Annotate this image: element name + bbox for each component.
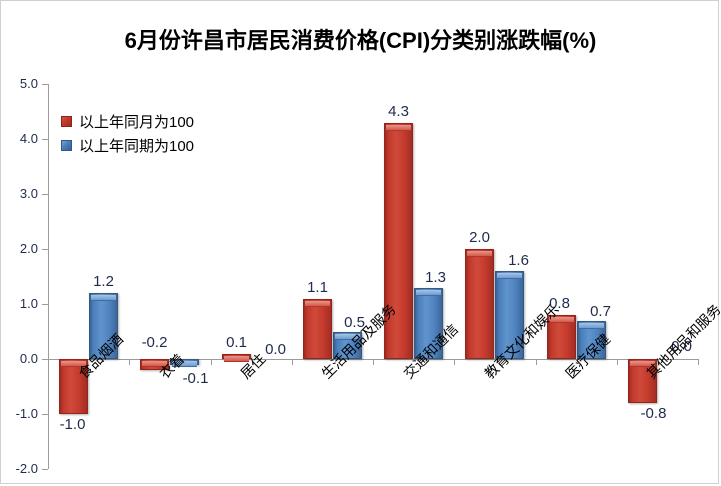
- bar-series1[interactable]: [222, 354, 251, 360]
- bar-series1[interactable]: [303, 299, 332, 360]
- y-axis-tick-label: 4.0: [1, 133, 38, 145]
- y-axis-tick-label: 5.0: [1, 78, 38, 90]
- legend-label: 以上年同期为100: [79, 135, 194, 156]
- bar-value-label: 1.6: [496, 253, 542, 268]
- y-axis-tick-label: 1.0: [1, 298, 38, 310]
- legend-label: 以上年同月为100: [79, 111, 194, 132]
- y-axis-tick: [42, 469, 48, 470]
- bar-value-label: 2.0: [457, 230, 503, 245]
- bar-series1[interactable]: [384, 123, 413, 360]
- x-axis-tick: [48, 359, 49, 365]
- chart-frame: 6月份许昌市居民消费价格(CPI)分类别涨跌幅(%) 5.04.03.02.01…: [0, 0, 719, 484]
- y-axis-tick-label: -1.0: [1, 408, 38, 420]
- x-axis-tick: [454, 359, 455, 365]
- y-axis-tick: [42, 84, 48, 85]
- bar-value-label: -0.8: [631, 406, 677, 421]
- bar-value-label: 1.2: [81, 274, 127, 289]
- x-axis-tick: [617, 359, 618, 365]
- legend-item[interactable]: 以上年同月为100: [61, 109, 194, 133]
- y-axis-tick: [42, 414, 48, 415]
- bar-value-label: -1.0: [50, 417, 96, 432]
- y-axis-line: [48, 84, 49, 469]
- chart-legend: 以上年同月为100以上年同期为100: [61, 109, 194, 157]
- y-axis-tick: [42, 304, 48, 305]
- x-axis-tick: [211, 359, 212, 365]
- legend-swatch-red: [61, 116, 72, 127]
- page-title: 6月份许昌市居民消费价格(CPI)分类别涨跌幅(%): [1, 23, 720, 55]
- bar-series1[interactable]: [465, 249, 494, 359]
- x-axis-tick: [698, 359, 699, 365]
- legend-item[interactable]: 以上年同期为100: [61, 133, 194, 157]
- x-axis-category-label: 其他用品和服务: [644, 302, 721, 381]
- bar-value-label: -0.2: [132, 335, 178, 350]
- x-axis-tick: [292, 359, 293, 365]
- y-axis-tick-label: -2.0: [1, 463, 38, 475]
- y-axis-tick-label: 2.0: [1, 243, 38, 255]
- bar-value-label: 1.1: [295, 280, 341, 295]
- legend-swatch-blue: [61, 140, 72, 151]
- x-axis-tick: [373, 359, 374, 365]
- bar-value-label: 0.7: [578, 304, 624, 319]
- bar-value-label: -0.1: [173, 371, 219, 386]
- y-axis-tick: [42, 249, 48, 250]
- x-axis-tick: [129, 359, 130, 365]
- y-axis-tick-label: 3.0: [1, 188, 38, 200]
- x-axis-tick: [536, 359, 537, 365]
- y-axis-tick: [42, 139, 48, 140]
- y-axis-tick: [42, 194, 48, 195]
- y-axis-tick-label: 0.0: [1, 353, 38, 365]
- bar-value-label: 4.3: [376, 104, 422, 119]
- bar-value-label: 1.3: [413, 270, 459, 285]
